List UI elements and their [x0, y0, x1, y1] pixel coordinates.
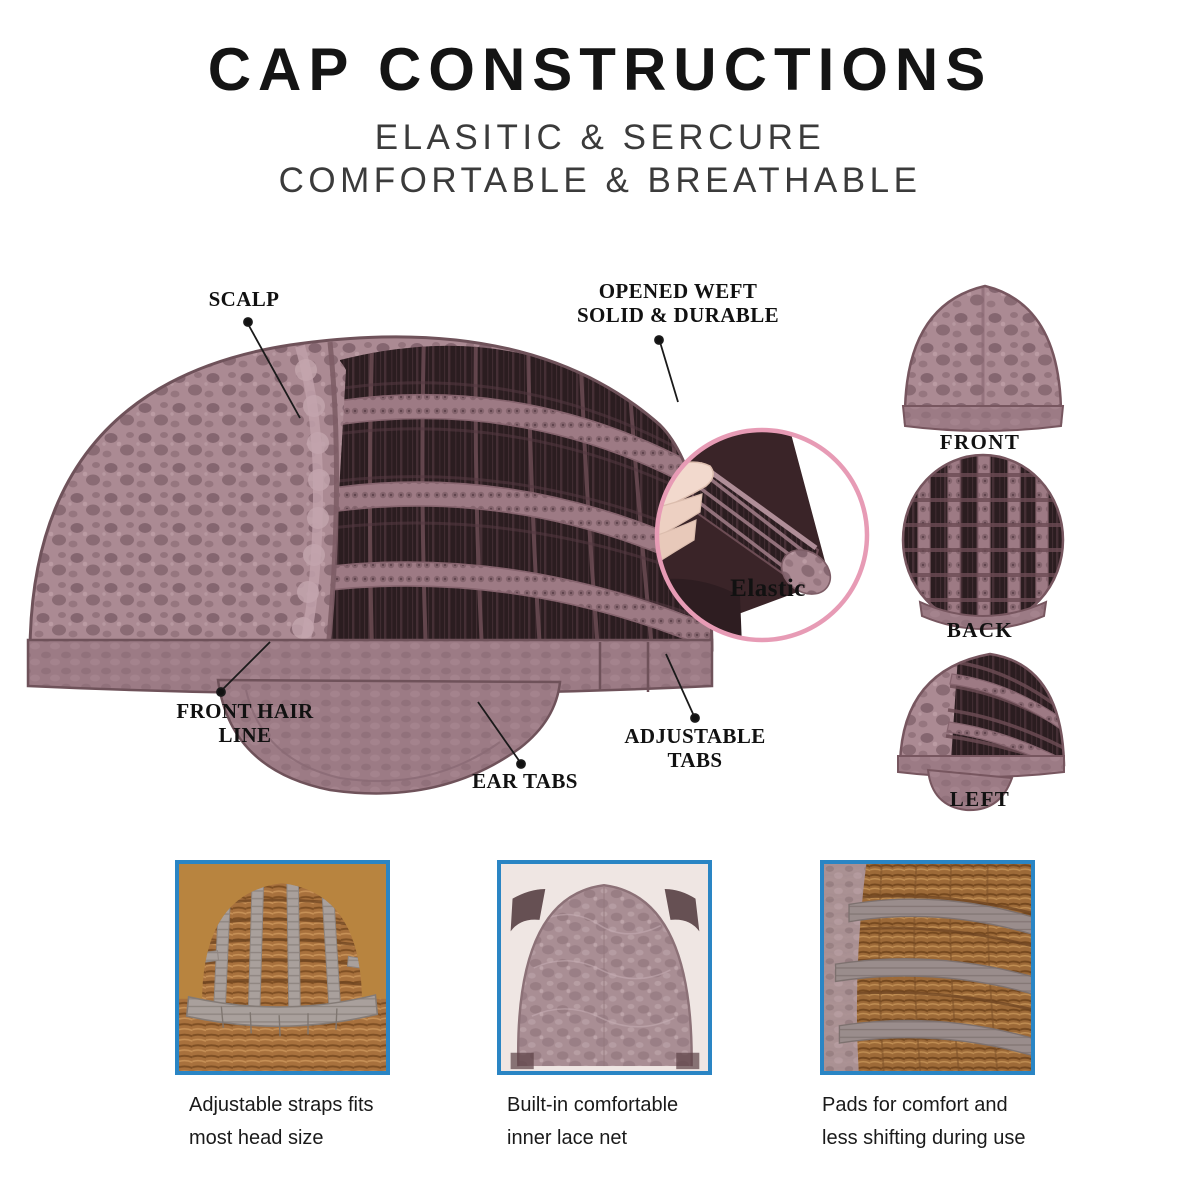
feature-panel-caption: Built-in comfortable inner lace net: [497, 1089, 712, 1155]
cap-view-label-back: BACK: [880, 618, 1080, 643]
cap-view-label-left: LEFT: [880, 787, 1080, 812]
comfort-pads-photo: [824, 864, 1031, 1071]
page-header: CAP CONSTRUCTIONS ELASITIC & SERCURE COM…: [0, 38, 1200, 202]
subtitle-line-2: COMFORTABLE & BREATHABLE: [0, 160, 1200, 203]
subtitle-line-1: ELASITIC & SERCURE: [0, 117, 1200, 160]
adjustable-straps-photo: [179, 864, 386, 1071]
feature-panels: Adjustable straps fits most head size: [0, 860, 1200, 1200]
feature-panel-image-frame: [175, 860, 390, 1075]
callout-label-front-hair-line: FRONT HAIR LINE: [120, 700, 370, 747]
feature-panel-image-frame: [497, 860, 712, 1075]
cap-view-label-front: FRONT: [880, 430, 1080, 455]
callout-label-elastic: Elastic: [668, 575, 868, 603]
feature-panel-caption: Pads for comfort and less shifting durin…: [820, 1089, 1035, 1155]
cap-diagram: SCALP OPENED WEFT SOLID & DURABLE FRONT …: [0, 250, 1200, 850]
feature-panel-caption: Adjustable straps fits most head size: [175, 1089, 390, 1155]
callout-label-ear-tabs: EAR TABS: [400, 770, 650, 794]
feature-panel-inner-lace-net: Built-in comfortable inner lace net: [497, 860, 712, 1155]
callout-label-scalp: SCALP: [154, 288, 334, 312]
inner-lace-net-photo: [501, 864, 708, 1071]
feature-panel-adjustable-straps: Adjustable straps fits most head size: [175, 860, 390, 1155]
feature-panel-image-frame: [820, 860, 1035, 1075]
feature-panel-comfort-pads: Pads for comfort and less shifting durin…: [820, 860, 1035, 1155]
callout-label-adjustable-tabs: ADJUSTABLE TABS: [560, 725, 830, 772]
page-title: CAP CONSTRUCTIONS: [0, 38, 1200, 101]
callout-label-opened-weft: OPENED WEFT SOLID & DURABLE: [528, 280, 828, 327]
